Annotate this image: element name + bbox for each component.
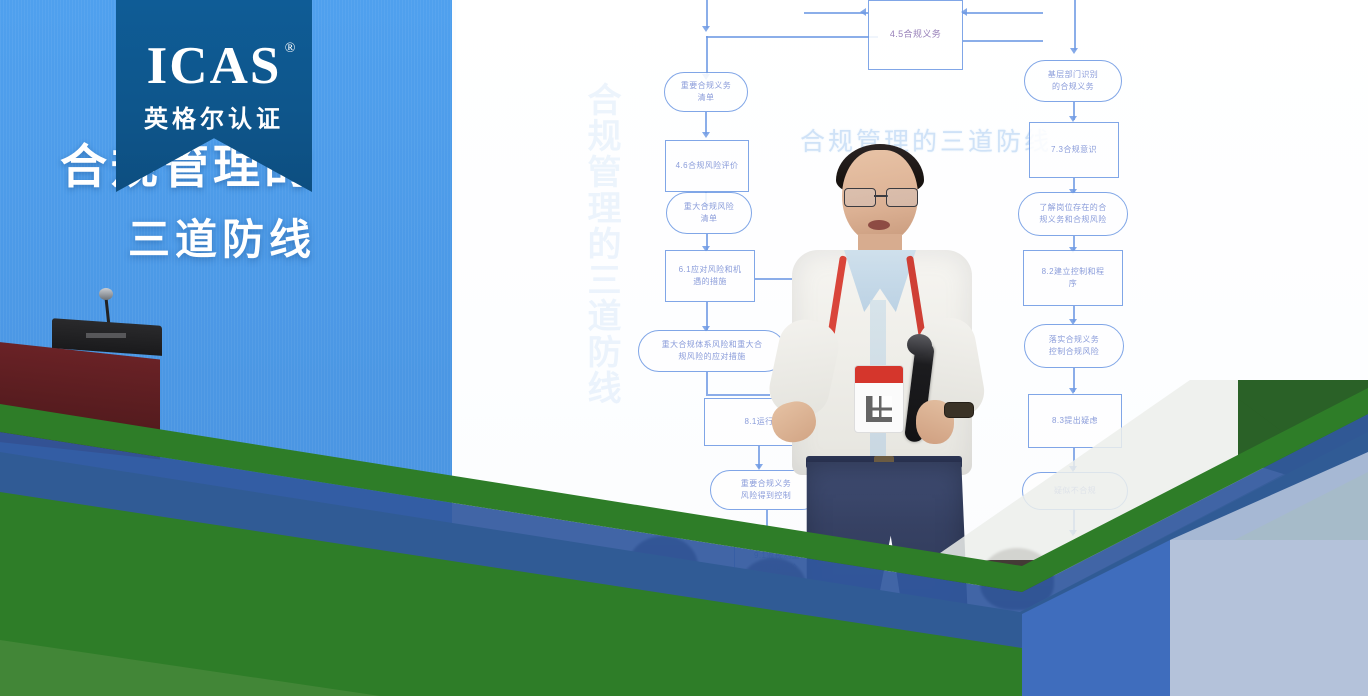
flow-node-4-6: 4.6合规风险评价 (665, 140, 749, 192)
registered-trademark-icon: ® (285, 42, 298, 56)
flow-node-understand-post: 了解岗位存在的合规义务和合规风险 (1018, 192, 1128, 236)
icas-wordmark: ICAS ® (147, 40, 282, 93)
conference-badge (854, 365, 904, 433)
presenter-trousers (800, 462, 968, 622)
flow-node-6-1: 6.1应对风险和机遇的措施 (665, 250, 755, 302)
flow-node-8-2: 8.2建立控制和程序 (1023, 250, 1123, 306)
glasses-icon (844, 188, 918, 205)
icas-wordmark-text: ICAS (147, 37, 282, 95)
flow-node-major-measures: 重大合规体系风险和重大合规风险的应对措施 (638, 330, 786, 372)
audience-head (1218, 566, 1280, 618)
wristwatch (944, 402, 974, 418)
stage-title-line2: 三道防线 (128, 206, 316, 267)
flow-node-major-risk-list: 重大合规风险清单 (666, 192, 752, 234)
icas-chinese-name: 英格尔认证 (144, 99, 284, 134)
audience-head (628, 536, 698, 596)
presenter (770, 150, 1010, 620)
flow-node-important-obligations: 重要合规义务清单 (664, 72, 748, 112)
podium (0, 341, 160, 459)
flow-node-8-3: 8.3提出疑虑 (1028, 394, 1122, 448)
flow-node-dept-obligations: 基层部门识别的合规义务 (1024, 60, 1122, 102)
screenshot-stage: 合规管理的三道防线 合规管理的三道防线 4.5合规义务 重要合规义务清单 4.6… (0, 0, 1368, 696)
podium-mic-capsule (99, 288, 113, 300)
qr-code-icon (866, 396, 892, 422)
flow-node-7-3: 7.3合规意识 (1029, 122, 1119, 178)
podium-control-panel (86, 333, 126, 338)
presenter-mouth (868, 220, 890, 230)
flow-node-4-5: 4.5合规义务 (868, 0, 963, 70)
flow-node-implement: 落实合规义务控制合规风险 (1024, 324, 1124, 368)
flow-node-suspected: 疑似不合规 (1022, 472, 1128, 510)
